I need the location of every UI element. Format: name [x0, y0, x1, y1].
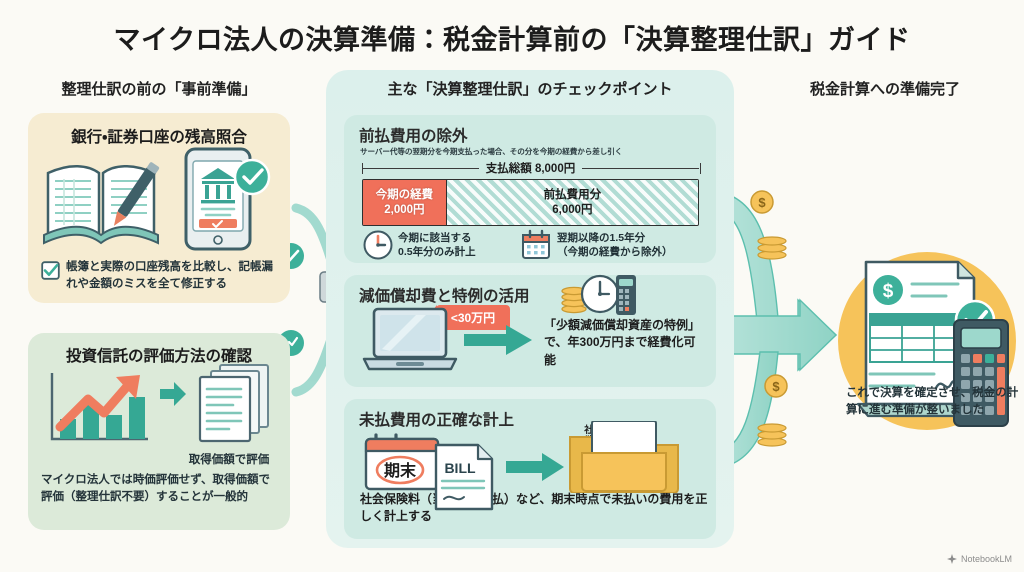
card-title: 減価償却費と特例の活用: [359, 284, 530, 306]
note-clock-text: 今期に該当する 0.5年分のみ計上: [398, 231, 528, 259]
right-column-header: 税金計算への準備完了: [760, 78, 1010, 99]
bar-total-label: 支払総額 8,000円: [362, 160, 699, 176]
smartphone-bank-icon: [166, 145, 278, 253]
arrow-right-icon: [158, 379, 188, 409]
invest-tag: 取得価額で評価: [174, 451, 284, 467]
card-body: 社会保険料（当月分翌月払）など、期末時点で未払いの費用を正しく計上する: [360, 491, 712, 526]
clock-icon: [362, 229, 394, 261]
spark-icon: [947, 554, 957, 564]
bar-chart-up-icon: [46, 369, 156, 447]
calculator-icon: [616, 275, 636, 315]
bar-segment-current: 今期の経費 2,000円: [363, 180, 447, 225]
card-bank-reconciliation[interactable]: 銀行・証券口座の残高照合: [28, 113, 290, 303]
card-investment-valuation[interactable]: 投資信託の評価方法の確認 取得価額で評価 マイクロ法人では時価評価せず、取得価額…: [28, 333, 290, 530]
arrow-right-icon: [504, 451, 566, 483]
middle-column-header: 主な「決算整理仕訳」のチェックポイント: [330, 78, 730, 99]
documents-icon: [194, 361, 278, 447]
left-column-header: 整理仕訳の前の「事前準備」: [14, 78, 304, 99]
coin-stack-icon: [758, 237, 786, 259]
folder-icon: [564, 421, 684, 493]
coins-icon: [560, 269, 636, 321]
caption-text: 帳簿と実際の口座残高を比較し、記帳漏れや金額のミスを全て修正する: [66, 261, 273, 290]
card-accrued-expense[interactable]: 未払費用の正確な計上 期末 BILL 社会保険料 （: [344, 399, 716, 539]
card-body: 「少額減価償却資産の特例」で、年300万円まで経費化可能: [544, 317, 704, 369]
calendar-icon: [520, 229, 552, 261]
svg-text:$: $: [758, 195, 766, 210]
prepaid-bar: 今期の経費 2,000円 前払費用分 6,000円: [362, 179, 699, 226]
coin-stack-icon: [758, 424, 786, 446]
calendar-stamp-text: 期末: [384, 461, 417, 480]
svg-text:$: $: [883, 281, 894, 302]
card-caption: マイクロ法人では時価評価せず、取得価額で評価（整理仕訳不要）することが一般的: [41, 472, 281, 507]
card-title: 未払費用の正確な計上: [359, 408, 514, 430]
checkbox-icon: [41, 261, 60, 280]
bar-segment-prepaid: 前払費用分 6,000円: [447, 180, 698, 225]
dollar-coin-icon: $: [765, 375, 787, 397]
svg-text:$: $: [772, 379, 780, 394]
arrow-right-icon: [462, 323, 534, 357]
laptop-icon: [360, 305, 460, 377]
svg-text:BILL: BILL: [444, 460, 476, 476]
card-prepaid-expense[interactable]: 前払費用の除外 サーバー代等の翌期分を今期支払った場合、その分を今期の経費から差…: [344, 115, 716, 263]
watermark-label: NotebookLM: [961, 554, 1012, 564]
ledger-book-icon: [42, 151, 160, 251]
clock-icon: [582, 276, 618, 312]
card-caption: 帳簿と実際の口座残高を比較し、記帳漏れや金額のミスを全て修正する: [42, 259, 280, 292]
result-caption: これで決算を確定させ、税金の計算に進む準備が整いました: [846, 385, 1024, 420]
infographic-canvas: $ $ $ マイクロ法人の: [0, 0, 1024, 572]
card-depreciation[interactable]: 減価償却費と特例の活用 <30万円: [344, 275, 716, 387]
page-title: マイクロ法人の決算準備：税金計算前の「決算整理仕訳」ガイド: [0, 18, 1024, 57]
bill-document-icon: BILL: [432, 441, 496, 513]
card-subtitle: サーバー代等の翌期分を今期支払った場合、その分を今期の経費から差し引く: [360, 146, 706, 157]
note-calendar-text: 翌期以降の1.5年分 （今期の経費から除外）: [557, 231, 707, 259]
card-title: 前払費用の除外: [359, 124, 468, 146]
card-title: 銀行・証券口座の残高照合: [28, 125, 290, 147]
dollar-coin-icon: $: [751, 191, 773, 213]
watermark: NotebookLM: [947, 554, 1012, 564]
prepaid-notes: 今期に該当する 0.5年分のみ計上 翌期以降の1.5年分 （今期の経費から除外）: [362, 231, 702, 261]
